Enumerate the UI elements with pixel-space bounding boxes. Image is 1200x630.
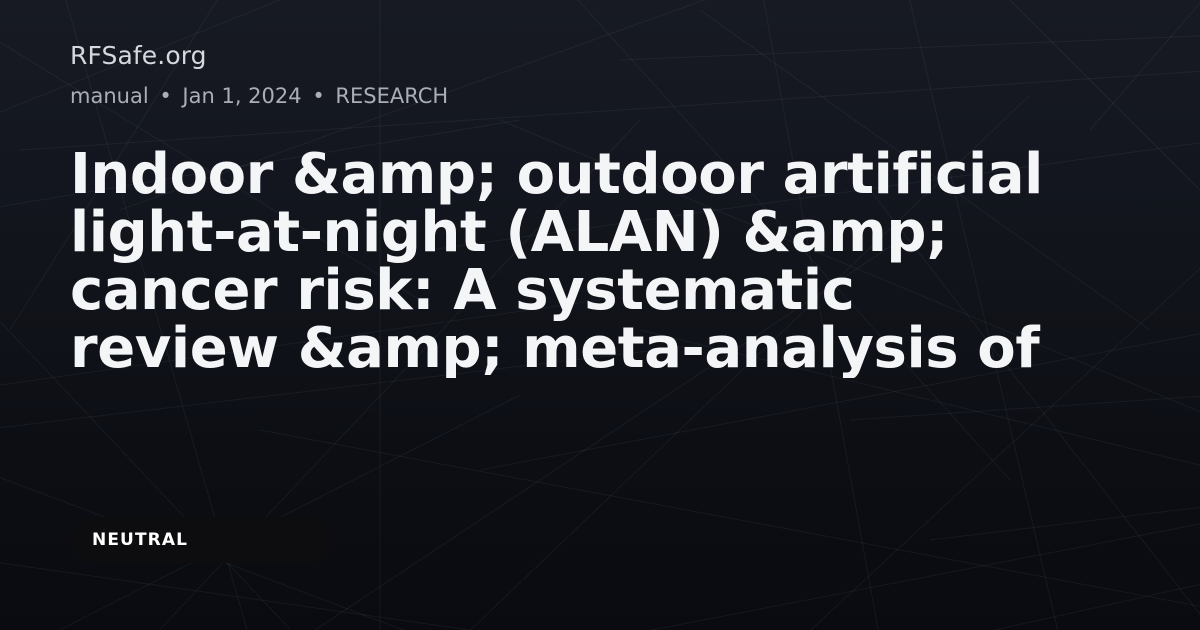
badge-row: NEUTRAL: [70, 517, 331, 563]
meta-date: Jan 1, 2024: [182, 84, 301, 108]
card-content: RFSafe.org manual • Jan 1, 2024 • RESEAR…: [0, 0, 1200, 630]
meta-separator-2: •: [308, 84, 328, 108]
headline-line-3: cancer risk: A systematic: [70, 262, 1200, 320]
og-share-card: RFSafe.org manual • Jan 1, 2024 • RESEAR…: [0, 0, 1200, 630]
meta-source: manual: [70, 84, 149, 108]
headline-line-1: Indoor &amp; outdoor artificial: [70, 146, 1200, 204]
headline-line-4: review &amp; meta-analysis of: [70, 320, 1200, 378]
meta-line: manual • Jan 1, 2024 • RESEARCH: [70, 82, 448, 110]
site-name: RFSafe.org: [70, 40, 207, 72]
page-title: Indoor &amp; outdoor artificial light-at…: [70, 146, 1200, 378]
headline-line-2: light-at-night (ALAN) &amp;: [70, 204, 1200, 262]
meta-category: RESEARCH: [335, 84, 448, 108]
meta-separator-1: •: [155, 84, 175, 108]
status-badge: NEUTRAL: [70, 517, 331, 563]
